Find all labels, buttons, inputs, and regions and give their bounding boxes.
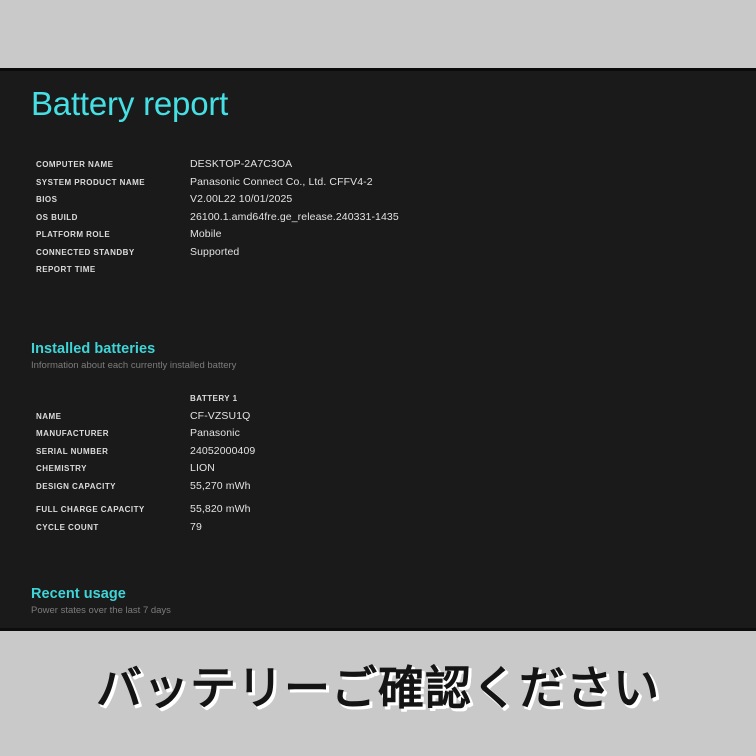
- system-info-table: COMPUTER NAME DESKTOP-2A7C3OA SYSTEM PRO…: [36, 156, 399, 279]
- table-header-row: BATTERY 1: [36, 390, 255, 408]
- table-row: COMPUTER NAME DESKTOP-2A7C3OA: [36, 156, 399, 174]
- table-row: OS BUILD 26100.1.amd64fre.ge_release.240…: [36, 209, 399, 227]
- table-row: SYSTEM PRODUCT NAME Panasonic Connect Co…: [36, 174, 399, 192]
- battery-details-table: BATTERY 1 NAME CF-VZSU1Q MANUFACTURER Pa…: [36, 390, 255, 536]
- table-row: PLATFORM ROLE Mobile: [36, 226, 399, 244]
- row-value: [190, 261, 399, 279]
- row-value: CF-VZSU1Q: [190, 408, 255, 426]
- battery-report-panel: Battery report COMPUTER NAME DESKTOP-2A7…: [0, 68, 756, 631]
- table-row: CYCLE COUNT 79: [36, 519, 255, 537]
- section-subheading: Information about each currently install…: [31, 359, 236, 373]
- table-row: REPORT TIME: [36, 261, 399, 279]
- row-label: PLATFORM ROLE: [36, 226, 190, 244]
- row-label: OS BUILD: [36, 209, 190, 227]
- row-label: SYSTEM PRODUCT NAME: [36, 174, 190, 192]
- row-value: 24052000409: [190, 443, 255, 461]
- row-value: Mobile: [190, 226, 399, 244]
- table-row: MANUFACTURER Panasonic: [36, 425, 255, 443]
- row-value: DESKTOP-2A7C3OA: [190, 156, 399, 174]
- panel-top-edge: [0, 68, 756, 71]
- table-row: FULL CHARGE CAPACITY 55,820 mWh: [36, 501, 255, 519]
- row-value: V2.00L22 10/01/2025: [190, 191, 399, 209]
- row-label: CONNECTED STANDBY: [36, 244, 190, 262]
- row-label-empty: [36, 390, 190, 408]
- table-row: NAME CF-VZSU1Q: [36, 408, 255, 426]
- row-label: NAME: [36, 408, 190, 426]
- row-label: CHEMISTRY: [36, 460, 190, 478]
- row-value: Panasonic: [190, 425, 255, 443]
- row-label: MANUFACTURER: [36, 425, 190, 443]
- section-subheading: Power states over the last 7 days: [31, 604, 171, 618]
- row-label: SERIAL NUMBER: [36, 443, 190, 461]
- row-value: 55,270 mWh: [190, 478, 255, 496]
- table-row: DESIGN CAPACITY 55,270 mWh: [36, 478, 255, 496]
- row-label: REPORT TIME: [36, 261, 190, 279]
- table-row: CONNECTED STANDBY Supported: [36, 244, 399, 262]
- table-row: SERIAL NUMBER 24052000409: [36, 443, 255, 461]
- row-label: BIOS: [36, 191, 190, 209]
- section-installed-batteries: Installed batteries Information about ea…: [31, 340, 236, 373]
- section-heading: Recent usage: [31, 585, 171, 603]
- table-row: CHEMISTRY LION: [36, 460, 255, 478]
- row-value: 26100.1.amd64fre.ge_release.240331-1435: [190, 209, 399, 227]
- row-value: Panasonic Connect Co., Ltd. CFFV4-2: [190, 174, 399, 192]
- row-value: Supported: [190, 244, 399, 262]
- row-label: COMPUTER NAME: [36, 156, 190, 174]
- battery-column-header: BATTERY 1: [190, 390, 255, 408]
- row-label: DESIGN CAPACITY: [36, 478, 190, 496]
- row-value: 55,820 mWh: [190, 501, 255, 519]
- overlay-caption: バッテリーご確認ください: [0, 660, 756, 716]
- row-label: CYCLE COUNT: [36, 519, 190, 537]
- page-title: Battery report: [31, 83, 228, 125]
- section-heading: Installed batteries: [31, 340, 236, 358]
- row-value: 79: [190, 519, 255, 537]
- table-row: BIOS V2.00L22 10/01/2025: [36, 191, 399, 209]
- section-recent-usage: Recent usage Power states over the last …: [31, 585, 171, 618]
- letterbox-band-top: [0, 0, 756, 68]
- row-label: FULL CHARGE CAPACITY: [36, 501, 190, 519]
- row-value: LION: [190, 460, 255, 478]
